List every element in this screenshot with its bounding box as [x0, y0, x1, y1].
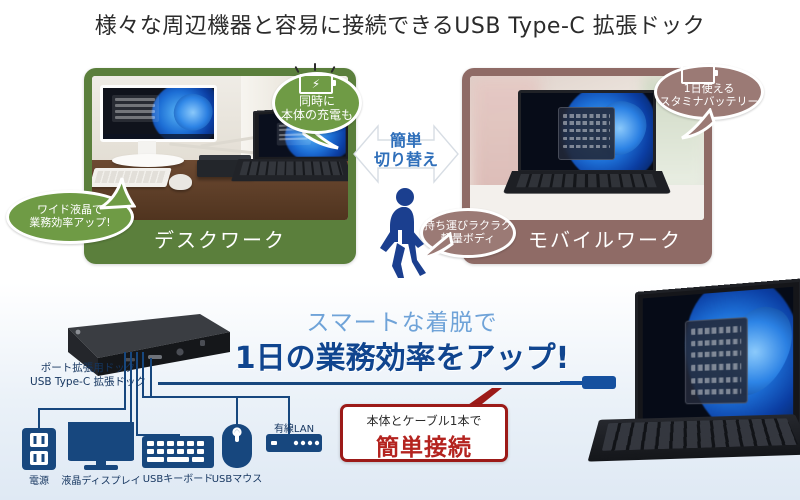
power-outlet-icon — [22, 428, 56, 470]
peripheral-mouse-label: USBマウス — [212, 470, 263, 485]
usb-c-connector-icon — [582, 376, 616, 389]
cable-segment — [38, 408, 40, 430]
battery-icon — [681, 64, 715, 84]
battery-charging-icon: ⚡ — [299, 74, 333, 94]
laptop-in-mobile-photo — [512, 90, 662, 205]
dock-caption: ポート拡張用ドック USB Type-C 拡張ドック — [8, 361, 168, 389]
cable-segment — [150, 358, 152, 398]
cable-segment — [236, 396, 238, 424]
red-callout: 本体とケーブル1本で 簡単接続 — [340, 404, 508, 462]
cable-segment — [130, 352, 132, 424]
switch-label-line1: 簡単 — [352, 132, 460, 151]
peripheral-monitor: 液晶ディスプレイ — [68, 422, 134, 470]
headline-main: 1日の業務効率をアップ! — [222, 333, 582, 377]
keyboard-icon — [142, 436, 214, 468]
peripheral-monitor-label: 液晶ディスプレイ — [61, 472, 140, 487]
infographic-root: 様々な周辺機器と容易に接続できるUSB Type-C 拡張ドック — [0, 0, 800, 500]
bubble-battery-life-tail — [680, 108, 720, 142]
cable-segment — [124, 352, 126, 410]
dock-caption-line1: ポート拡張用ドック — [8, 361, 168, 375]
mouse-icon — [222, 424, 252, 468]
cable-segment — [150, 396, 290, 398]
cable-to-laptop — [158, 382, 594, 385]
monitor-icon — [68, 422, 134, 470]
cable-segment — [142, 352, 144, 398]
peripheral-lan-label: 有線LAN — [274, 420, 314, 435]
switch-arrow: 簡単 切り替え — [352, 112, 460, 196]
red-callout-line1: 本体とケーブル1本で — [343, 412, 505, 429]
dock-caption-line2: USB Type-C 拡張ドック — [8, 375, 168, 389]
bubble-wide-lcd-line2: 業務効率アップ! — [29, 217, 110, 230]
bubble-charging-line1: 同時に — [281, 94, 353, 108]
peripheral-power: 電源 — [22, 428, 56, 470]
router-icon — [266, 434, 322, 452]
cable-segment — [38, 408, 126, 410]
laptop-main — [600, 292, 796, 488]
cable-segment — [136, 352, 138, 436]
spark-line — [314, 63, 316, 71]
walking-person-icon — [368, 186, 440, 278]
desktop-monitor — [100, 85, 218, 143]
bubble-charging-line2: 本体の充電も — [281, 108, 353, 122]
white-mouse — [169, 174, 192, 190]
peripheral-lan: 有線LAN — [266, 434, 322, 452]
page-title: 様々な周辺機器と容易に接続できるUSB Type-C 拡張ドック — [0, 8, 800, 40]
bubble-wide-lcd-tail — [96, 176, 136, 212]
red-callout-line2: 簡単接続 — [343, 428, 505, 462]
headline-sub: スマートな着脱で — [252, 303, 552, 337]
peripheral-mouse: USBマウス — [222, 424, 252, 468]
peripheral-keyboard: USBキーボード — [142, 436, 214, 468]
monitor-base — [112, 154, 184, 167]
peripheral-keyboard-label: USBキーボード — [143, 470, 214, 485]
switch-label-line2: 切り替え — [352, 151, 460, 170]
peripheral-power-label: 電源 — [29, 472, 49, 487]
